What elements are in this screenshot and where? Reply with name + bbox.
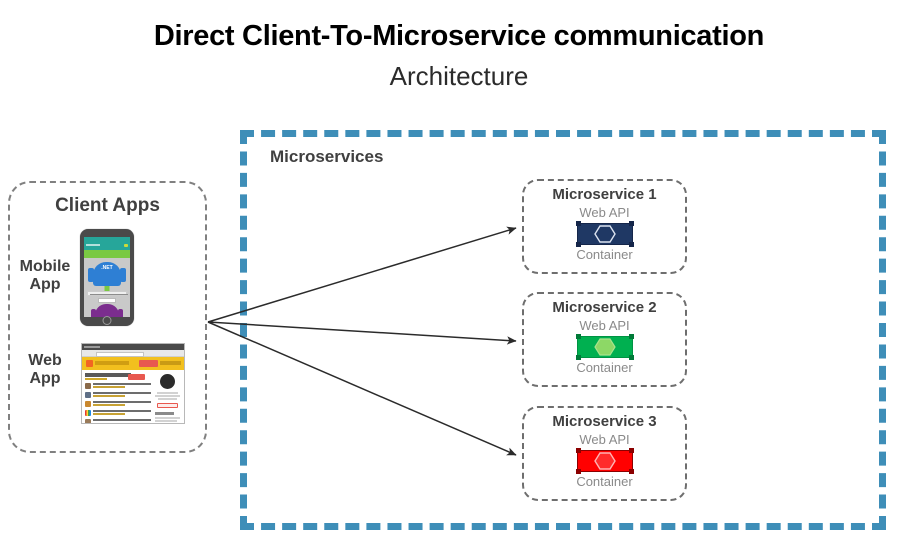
sidebar-text-line <box>157 392 179 394</box>
page-title: Direct Client-To-Microservice communicat… <box>0 20 918 53</box>
product-brand-text: .NET <box>84 265 130 271</box>
container-tab <box>629 448 634 453</box>
sidebar-cta-button <box>157 403 178 408</box>
diagram-canvas: Direct Client-To-Microservice communicat… <box>0 0 918 537</box>
list-item-avatar-rainbow <box>85 410 91 416</box>
container-tab <box>576 355 581 360</box>
microservice-1-api-label: Web API <box>524 205 685 220</box>
content-heading <box>85 373 131 377</box>
microservice-1-title: Microservice 1 <box>524 186 685 203</box>
web-app-label: Web App <box>10 352 80 389</box>
microservice-3-api-label: Web API <box>524 432 685 447</box>
microservice-2-api-label: Web API <box>524 318 685 333</box>
container-tab <box>629 221 634 226</box>
microservices-group-label: Microservices <box>270 147 383 167</box>
microservice-2-title: Microservice 2 <box>524 299 685 316</box>
microservice-1-container-label: Container <box>524 247 685 262</box>
list-item <box>85 401 151 407</box>
container-tab <box>576 242 581 247</box>
content-sidebar <box>154 373 181 422</box>
mobile-app-label-line2: App <box>29 276 60 293</box>
container-tab <box>629 334 634 339</box>
phone-mockup: .NET <box>80 229 134 326</box>
container-tab <box>629 469 634 474</box>
list-item-text <box>93 383 151 389</box>
container-tab <box>576 334 581 339</box>
product-price-tag <box>98 298 116 303</box>
site-logo-icon <box>86 360 93 367</box>
microservice-3-box: Microservice 3 Web API Container <box>522 406 687 501</box>
microservice-2-container-label: Container <box>524 360 685 375</box>
content-main-column <box>85 373 151 422</box>
phone-accent-bar <box>84 250 130 258</box>
list-item <box>85 392 151 398</box>
sidebar-text-line <box>155 395 179 397</box>
site-logo-text <box>95 361 129 365</box>
list-item-avatar <box>85 419 91 424</box>
container-hexagon-icon <box>594 225 616 243</box>
list-item-avatar <box>85 401 91 407</box>
phone-catalog-area: .NET <box>84 258 130 317</box>
microservice-2-box: Microservice 2 Web API Container <box>522 292 687 387</box>
phone-home-button-icon <box>103 316 112 325</box>
container-icon <box>577 336 633 358</box>
list-item <box>85 419 151 424</box>
microservice-3-title: Microservice 3 <box>524 413 685 430</box>
list-item-text <box>93 419 151 422</box>
container-icon <box>577 450 633 472</box>
container-tab <box>576 221 581 226</box>
list-item-avatar <box>85 383 91 389</box>
sidebar-heading <box>155 412 174 415</box>
site-content <box>82 370 184 424</box>
container-tab <box>576 469 581 474</box>
site-top-navbar <box>82 357 184 370</box>
phone-app-navbar <box>84 241 130 250</box>
list-item-text <box>93 410 151 416</box>
sidebar-text-line <box>158 398 177 400</box>
container-icon <box>577 223 633 245</box>
container-tab <box>576 448 581 453</box>
page-subtitle: Architecture <box>0 61 918 92</box>
nav-cta-button <box>139 360 158 367</box>
browser-address-bar <box>82 350 184 357</box>
browser-mockup <box>81 343 185 424</box>
content-action-button <box>128 374 145 380</box>
web-app-label-line1: Web <box>28 352 61 369</box>
container-hexagon-icon <box>594 452 616 470</box>
sidebar-text-line <box>155 420 177 422</box>
microservice-3-container-label: Container <box>524 474 685 489</box>
content-subheading <box>85 378 107 380</box>
mobile-app-label-line1: Mobile <box>20 258 71 275</box>
mobile-app-label: Mobile App <box>10 258 80 295</box>
list-item-text <box>93 392 151 398</box>
nav-links <box>160 361 181 365</box>
phone-screen: .NET <box>84 237 130 317</box>
list-item-text <box>93 401 151 407</box>
microservice-1-box: Microservice 1 Web API Container <box>522 179 687 274</box>
list-item <box>85 383 151 389</box>
container-tab <box>629 242 634 247</box>
list-item <box>85 410 151 416</box>
sidebar-badge-icon <box>160 374 175 389</box>
product-caption <box>87 291 127 296</box>
add-to-cart-dot-icon <box>105 286 110 291</box>
web-app-label-line2: App <box>29 370 60 387</box>
container-tab <box>629 355 634 360</box>
list-item-avatar <box>85 392 91 398</box>
container-hexagon-icon <box>594 338 616 356</box>
client-apps-label: Client Apps <box>8 195 207 217</box>
sidebar-text-line <box>155 417 180 419</box>
